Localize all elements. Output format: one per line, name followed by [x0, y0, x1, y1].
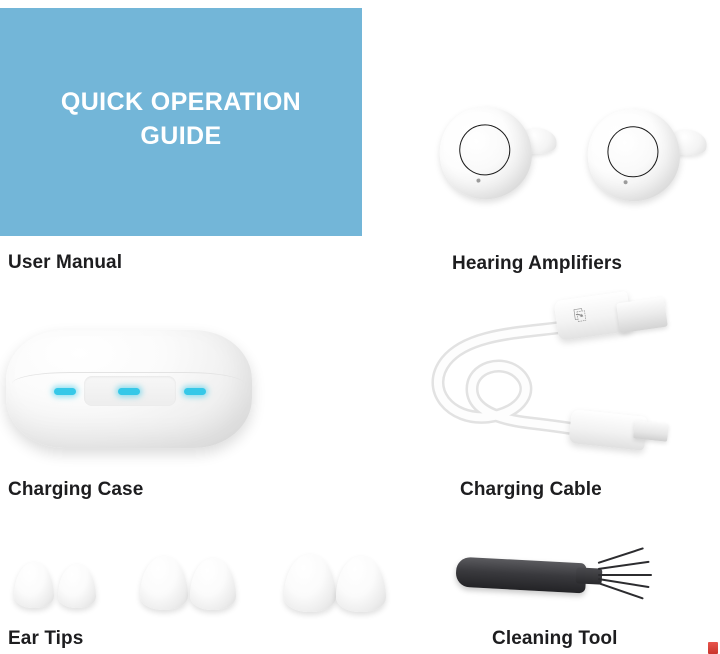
ear-tip-medium-b [190, 558, 236, 610]
charging-cable-group: ⎘ [410, 285, 710, 465]
earbud-right [583, 104, 689, 210]
usb-icon: ⎘ [573, 306, 587, 325]
ear-tip-small-b [58, 564, 96, 608]
user-manual-card: QUICK OPERATION GUIDE [0, 8, 362, 236]
earbud-left [434, 101, 542, 209]
cleaning-tool-bristle-3 [598, 574, 652, 576]
usb-a-connector: ⎘ [556, 293, 672, 339]
caption-user-manual: User Manual [8, 252, 122, 274]
product-contents-image: QUICK OPERATION GUIDE User Manual Hearin… [0, 0, 720, 654]
charging-case-led-1 [54, 388, 76, 395]
hearing-amplifiers-group [420, 95, 710, 235]
ear-tip-small-a [14, 562, 54, 608]
usb-a-contact [616, 297, 668, 333]
micro-usb-connector [570, 413, 680, 453]
ear-tip-medium-a [140, 556, 188, 610]
cleaning-tool-handle [455, 557, 586, 594]
caption-charging-cable: Charging Cable [460, 479, 602, 501]
cleaning-tool-group [450, 548, 680, 614]
cleaning-tool-bristle-2 [598, 561, 650, 571]
micro-usb-contact [633, 420, 669, 441]
ear-tip-large-b [336, 556, 386, 612]
caption-charging-case: Charging Case [8, 479, 143, 501]
ear-tips-group [0, 540, 420, 620]
corner-mark [708, 642, 718, 654]
caption-hearing-amplifiers: Hearing Amplifiers [452, 253, 622, 275]
charging-case-led-2 [118, 388, 140, 395]
caption-cleaning-tool: Cleaning Tool [492, 628, 618, 650]
ear-tip-large-a [284, 554, 336, 612]
caption-ear-tips: Ear Tips [8, 628, 83, 650]
charging-case-led-3 [184, 388, 206, 395]
manual-title: QUICK OPERATION GUIDE [41, 85, 321, 153]
charging-case-group [0, 320, 270, 460]
